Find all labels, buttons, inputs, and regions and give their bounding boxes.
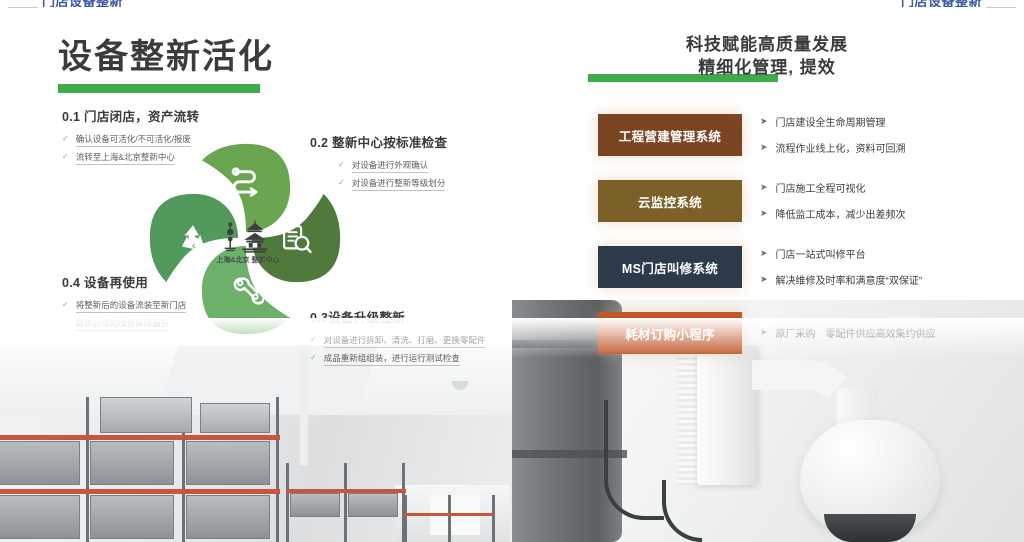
- system-row: 云监控系统 ➤ 门店施工全程可视化 ➤ 降低监工成本，减少出差频次: [512, 172, 1024, 238]
- check-icon: ✓: [310, 335, 317, 346]
- systems-list: 工程营建管理系统 ➤ 门店建设全生命周期管理 ➤ 流程作业线上化，资料可回溯 云…: [512, 106, 1024, 370]
- bullet: ➤ 解决维修及时率和满意度“双保证”: [760, 266, 922, 292]
- check-icon: ✓: [62, 318, 69, 329]
- section-0-2: 0.2 整新中心按标准检查 ✓ 对设备进行外观确认 ✓ 对设备进行整新等级划分: [310, 132, 447, 196]
- center-badge: 上海&北京 整新中心: [208, 204, 288, 280]
- section-0-1: 0.1 门店闭店，资产流转 ✓ 确认设备可活化/不可活化/报废 ✓ 流转至上海&…: [62, 106, 199, 170]
- system-pill-supplies-miniprogram[interactable]: 耗材订购小程序: [598, 312, 742, 354]
- system-bullets: ➤ 门店施工全程可视化 ➤ 降低监工成本，减少出差频次: [760, 174, 906, 226]
- list-item: ✓ 对设备进行拆卸、清洗、打磨、更换零配件: [310, 335, 485, 348]
- arrow-icon: ➤: [760, 327, 768, 338]
- check-icon: ✓: [62, 300, 69, 311]
- section-0-1-heading: 0.1 门店闭店，资产流转: [62, 106, 199, 125]
- section-0-2-list: ✓ 对设备进行外观确认 ✓ 对设备进行整新等级划分: [338, 160, 447, 191]
- list-item: ✓ 对设备进行整新等级划分: [338, 178, 447, 191]
- right-title-line1: 科技赋能高质量发展: [572, 34, 962, 57]
- section-0-3-list: ✓ 对设备进行拆卸、清洗、打磨、更换零配件 ✓ 成品重新组组装，进行运行测试检查: [310, 335, 485, 366]
- section-0-4-list: ✓ 将整新后的设备流装至新门店 ✓ 提供后续的维修保障服务: [62, 300, 186, 331]
- section-0-3-heading: 0.3设备升级整新: [310, 307, 485, 326]
- bullet: ➤ 流程作业线上化，资料可回溯: [760, 134, 906, 160]
- section-0-3: 0.3设备升级整新 ✓ 对设备进行拆卸、清洗、打磨、更换零配件 ✓ 成品重新组组…: [310, 307, 485, 371]
- section-0-4: 0.4 设备再使用 ✓ 将整新后的设备流装至新门店 ✓ 提供后续的维修保障服务: [62, 272, 186, 336]
- title-underline-left: [58, 84, 260, 93]
- center-badge-label: 上海&北京 整新中心: [217, 255, 280, 265]
- arrow-icon: ➤: [760, 182, 768, 193]
- system-row: 耗材订购小程序 ➤ 原厂采购 零配件供应高效集约供应: [512, 304, 1024, 370]
- section-0-2-heading: 0.2 整新中心按标准检查: [310, 132, 447, 151]
- left-title-wrap: 设备整新活化: [58, 40, 274, 74]
- section-0-4-heading: 0.4 设备再使用: [62, 272, 186, 291]
- temple-of-heaven-icon: [243, 221, 268, 253]
- left-panel: 设备整新活化: [0, 14, 512, 345]
- bullet: ➤ 降低监工成本，减少出差频次: [760, 200, 906, 226]
- arrow-icon: ➤: [760, 274, 768, 285]
- bullet: ➤ 门店一站式叫修平台: [760, 240, 922, 266]
- list-item: ✓ 成品重新组组装，进行运行测试检查: [310, 353, 485, 366]
- shanghai-tower-icon: [225, 222, 236, 251]
- check-icon: ✓: [338, 178, 345, 189]
- system-bullets: ➤ 门店一站式叫修平台 ➤ 解决维修及时率和满意度“双保证”: [760, 240, 922, 292]
- bullet: ➤ 门店建设全生命周期管理: [760, 108, 906, 134]
- check-icon: ✓: [62, 134, 69, 145]
- bullet: ➤ 门店施工全程可视化: [760, 174, 906, 200]
- arrow-icon: ➤: [760, 208, 768, 219]
- check-icon: ✓: [310, 353, 317, 364]
- system-pill-engineering[interactable]: 工程营建管理系统: [598, 114, 742, 156]
- arrow-icon: ➤: [760, 248, 768, 259]
- brand-logo-left: 门店设备整新: [42, 0, 123, 7]
- list-item: ✓ 提供后续的维修保障服务: [62, 318, 186, 331]
- page-title: 设备整新活化: [58, 40, 274, 74]
- top-header-bar: 门店设备整新 门店设备整新: [0, 0, 1024, 14]
- brand-logo-right: 门店设备整新: [901, 0, 982, 7]
- recycle-icon: [176, 221, 210, 255]
- right-panel: 科技赋能高质量发展 精细化管理, 提效 工程营建管理系统 ➤ 门店建设全生命周期…: [512, 14, 1024, 344]
- system-pill-cloud-monitoring[interactable]: 云监控系统: [598, 180, 742, 222]
- bullet: ➤ 原厂采购 零配件供应高效集约供应: [760, 319, 936, 345]
- list-item: ✓ 流转至上海&北京整新中心: [62, 152, 199, 165]
- header-rule-right: [986, 7, 1016, 8]
- right-panel-title: 科技赋能高质量发展 精细化管理, 提效: [572, 34, 962, 80]
- list-item: ✓ 将整新后的设备流装至新门店: [62, 300, 186, 313]
- slide-canvas: 门店设备整新 门店设备整新 设备整新活化: [0, 0, 1024, 542]
- section-0-1-list: ✓ 确认设备可活化/不可活化/报废 ✓ 流转至上海&北京整新中心: [62, 134, 199, 165]
- warehouse-photo: [0, 345, 512, 542]
- arrow-icon: ➤: [760, 116, 768, 127]
- system-pill-ms-repair[interactable]: MS门店叫修系统: [598, 246, 742, 288]
- header-rule-left: [8, 7, 38, 8]
- system-bullets: ➤ 门店建设全生命周期管理 ➤ 流程作业线上化，资料可回溯: [760, 108, 906, 160]
- system-row: MS门店叫修系统 ➤ 门店一站式叫修平台 ➤ 解决维修及时率和满意度“双保证”: [512, 238, 1024, 304]
- list-item: ✓ 对设备进行外观确认: [338, 160, 447, 173]
- system-bullets: ➤ 原厂采购 零配件供应高效集约供应: [760, 319, 936, 345]
- arrow-icon: ➤: [760, 142, 768, 153]
- right-title-line2: 精细化管理, 提效: [572, 57, 962, 80]
- check-icon: ✓: [338, 160, 345, 171]
- system-row: 工程营建管理系统 ➤ 门店建设全生命周期管理 ➤ 流程作业线上化，资料可回溯: [512, 106, 1024, 172]
- check-icon: ✓: [62, 152, 69, 163]
- list-item: ✓ 确认设备可活化/不可活化/报废: [62, 134, 199, 147]
